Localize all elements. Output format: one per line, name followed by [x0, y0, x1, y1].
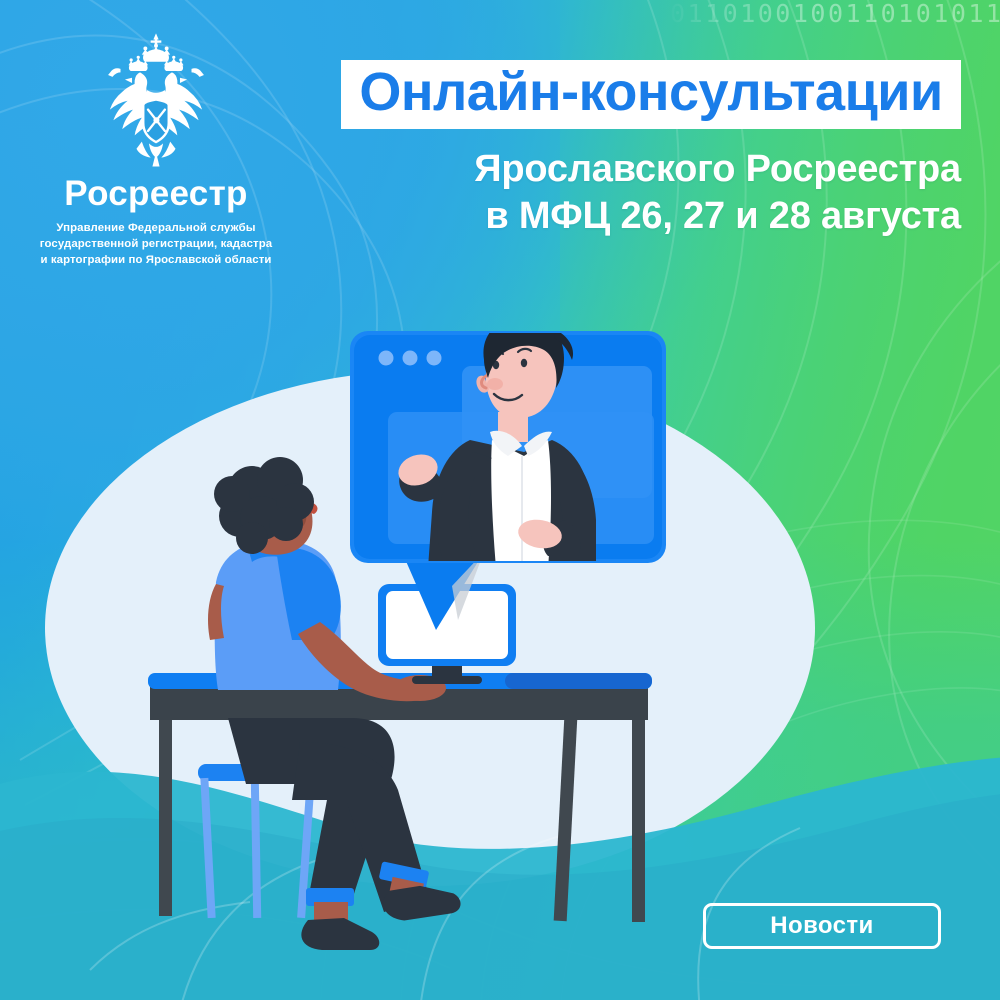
- title-subtitle: Ярославского Росреестра в МФЦ 26, 27 и 2…: [341, 146, 961, 239]
- subtitle-line-2: в МФЦ 26, 27 и 28 августа: [341, 193, 961, 239]
- poster-title-block: Онлайн-консультации Ярославского Росреес…: [341, 60, 961, 239]
- poster-canvas: 0110100100110101011001010110100100110100…: [0, 0, 1000, 1000]
- rosreestr-wordmark: Росреестр: [22, 176, 290, 211]
- news-button[interactable]: Новости: [703, 903, 941, 949]
- caption-line-2: государственной регистрации, кадастра: [22, 236, 290, 252]
- caption-line-3: и картографии по Ярославской области: [22, 252, 290, 268]
- rosreestr-caption: Управление Федеральной службы государств…: [22, 220, 290, 269]
- subtitle-line-1: Ярославского Росреестра: [341, 146, 961, 192]
- rosreestr-logo-block: Росреестр Управление Федеральной службы …: [22, 28, 290, 269]
- double-headed-eagle-icon: [85, 28, 227, 170]
- caption-line-1: Управление Федеральной службы: [22, 220, 290, 236]
- title-banner: Онлайн-консультации: [341, 60, 961, 129]
- title-main-text: Онлайн-консультации: [355, 64, 947, 120]
